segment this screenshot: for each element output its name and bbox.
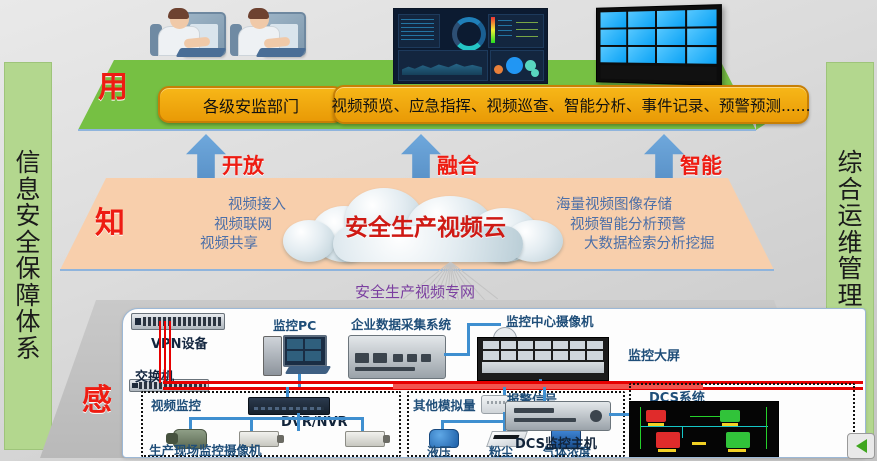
cloud-left-item: 视频联网 (146, 216, 272, 236)
vpn-device-icon (131, 313, 225, 330)
monitor-pc-label: 监控PC (273, 315, 316, 334)
up-arrow-smart-icon (644, 134, 684, 178)
rail-char: 障 (15, 283, 40, 310)
data-collector-label: 企业数据采集系统 (351, 314, 451, 333)
dcs-host-icon (505, 401, 611, 431)
layer-key-know: 知 (95, 198, 126, 242)
analog-item-label: 粉尘 (489, 443, 513, 458)
cloud-right-item: 视频智能分析预警 (570, 216, 756, 236)
rail-char: 信 (15, 150, 40, 177)
app-box-departments-label: 各级安监部门 (203, 93, 299, 117)
green-back-arrow-icon[interactable] (847, 433, 875, 459)
analog-item-label: 液压 (427, 443, 451, 458)
box-camera-icon (345, 431, 385, 447)
collector-link-wire-vertical (467, 323, 470, 356)
video-wall-icon (596, 4, 722, 86)
collector-link-wire-top (467, 323, 501, 326)
industrial-server-icon (348, 335, 446, 379)
rail-char: 息 (15, 177, 40, 204)
rail-char: 维 (837, 230, 862, 257)
cloud-left-item: 视频接入 (146, 196, 286, 216)
center-camera-label: 监控中心摄像机 (506, 311, 594, 330)
rail-char: 理 (837, 283, 862, 310)
cloud-right-capabilities: 海量视频图像存储 视频智能分析预警 大数据检索分析挖掘 (556, 196, 756, 255)
rail-char: 全 (15, 230, 40, 257)
rail-char: 管 (837, 256, 862, 283)
left-rail-information-security: 信 息 安 全 保 障 体 系 (4, 62, 52, 450)
group-video-caption: 生产现场监控摄像机 (149, 440, 262, 458)
cloud-label: 安全生产视频云 (283, 208, 568, 242)
layer-key-use: 用 (98, 62, 129, 106)
application-layer-edge (78, 129, 756, 131)
group-video-title: 视频监控 (151, 395, 201, 414)
rail-char: 系 (15, 336, 40, 363)
rail-char: 保 (15, 256, 40, 283)
architecture-diagram: 信 息 安 全 保 障 体 系 综 合 运 维 管 理 体 系 用 (0, 0, 877, 461)
pc-keyboard-icon (285, 366, 332, 374)
app-box-functions[interactable]: 视频预览、应急指挥、视频巡查、智能分析、事件记录、预警预测...... (333, 85, 809, 124)
group-analog-title: 其他模拟量 (413, 395, 476, 414)
analytics-dashboard-icon (393, 8, 548, 84)
up-arrow-fusion-icon (401, 134, 441, 178)
rail-char: 综 (837, 150, 862, 177)
app-box-departments[interactable]: 各级安监部门 (158, 86, 344, 123)
sensing-layer-panel: VPN设备 交换机 监控PC 企业数据采集系统 (122, 308, 866, 458)
rail-char: 安 (15, 203, 40, 230)
control-room-icon (477, 337, 609, 381)
dcs-scada-screen-icon (629, 401, 779, 457)
layer-key-sense: 感 (82, 375, 113, 419)
private-network-label: 安全生产视频专网 (355, 281, 475, 302)
rail-char: 运 (837, 203, 862, 230)
arrow-label-smart: 智能 (680, 150, 722, 180)
cloud-left-capabilities: 视频接入 视频联网 视频共享 (146, 196, 286, 255)
dcs-host-label: DCS监控主机 (515, 433, 597, 452)
arrow-label-open: 开放 (222, 150, 264, 180)
app-box-functions-label: 视频预览、应急指挥、视频巡查、智能分析、事件记录、预警预测...... (331, 94, 810, 116)
up-arrow-open-icon (186, 134, 226, 178)
pc-monitor-icon (283, 335, 327, 367)
rail-char: 体 (15, 309, 40, 336)
cloud-right-item: 海量视频图像存储 (556, 196, 756, 216)
arrow-label-fusion: 融合 (437, 150, 479, 180)
cloud-left-item: 视频共享 (146, 235, 258, 255)
rail-char: 合 (837, 177, 862, 204)
people-at-computers-icon (148, 8, 308, 66)
cloud-right-item: 大数据检索分析挖掘 (584, 235, 756, 255)
dvr-nvr-icon (248, 397, 330, 415)
desktop-pc-icon (263, 336, 282, 376)
big-screen-label: 监控大屏 (628, 345, 680, 364)
